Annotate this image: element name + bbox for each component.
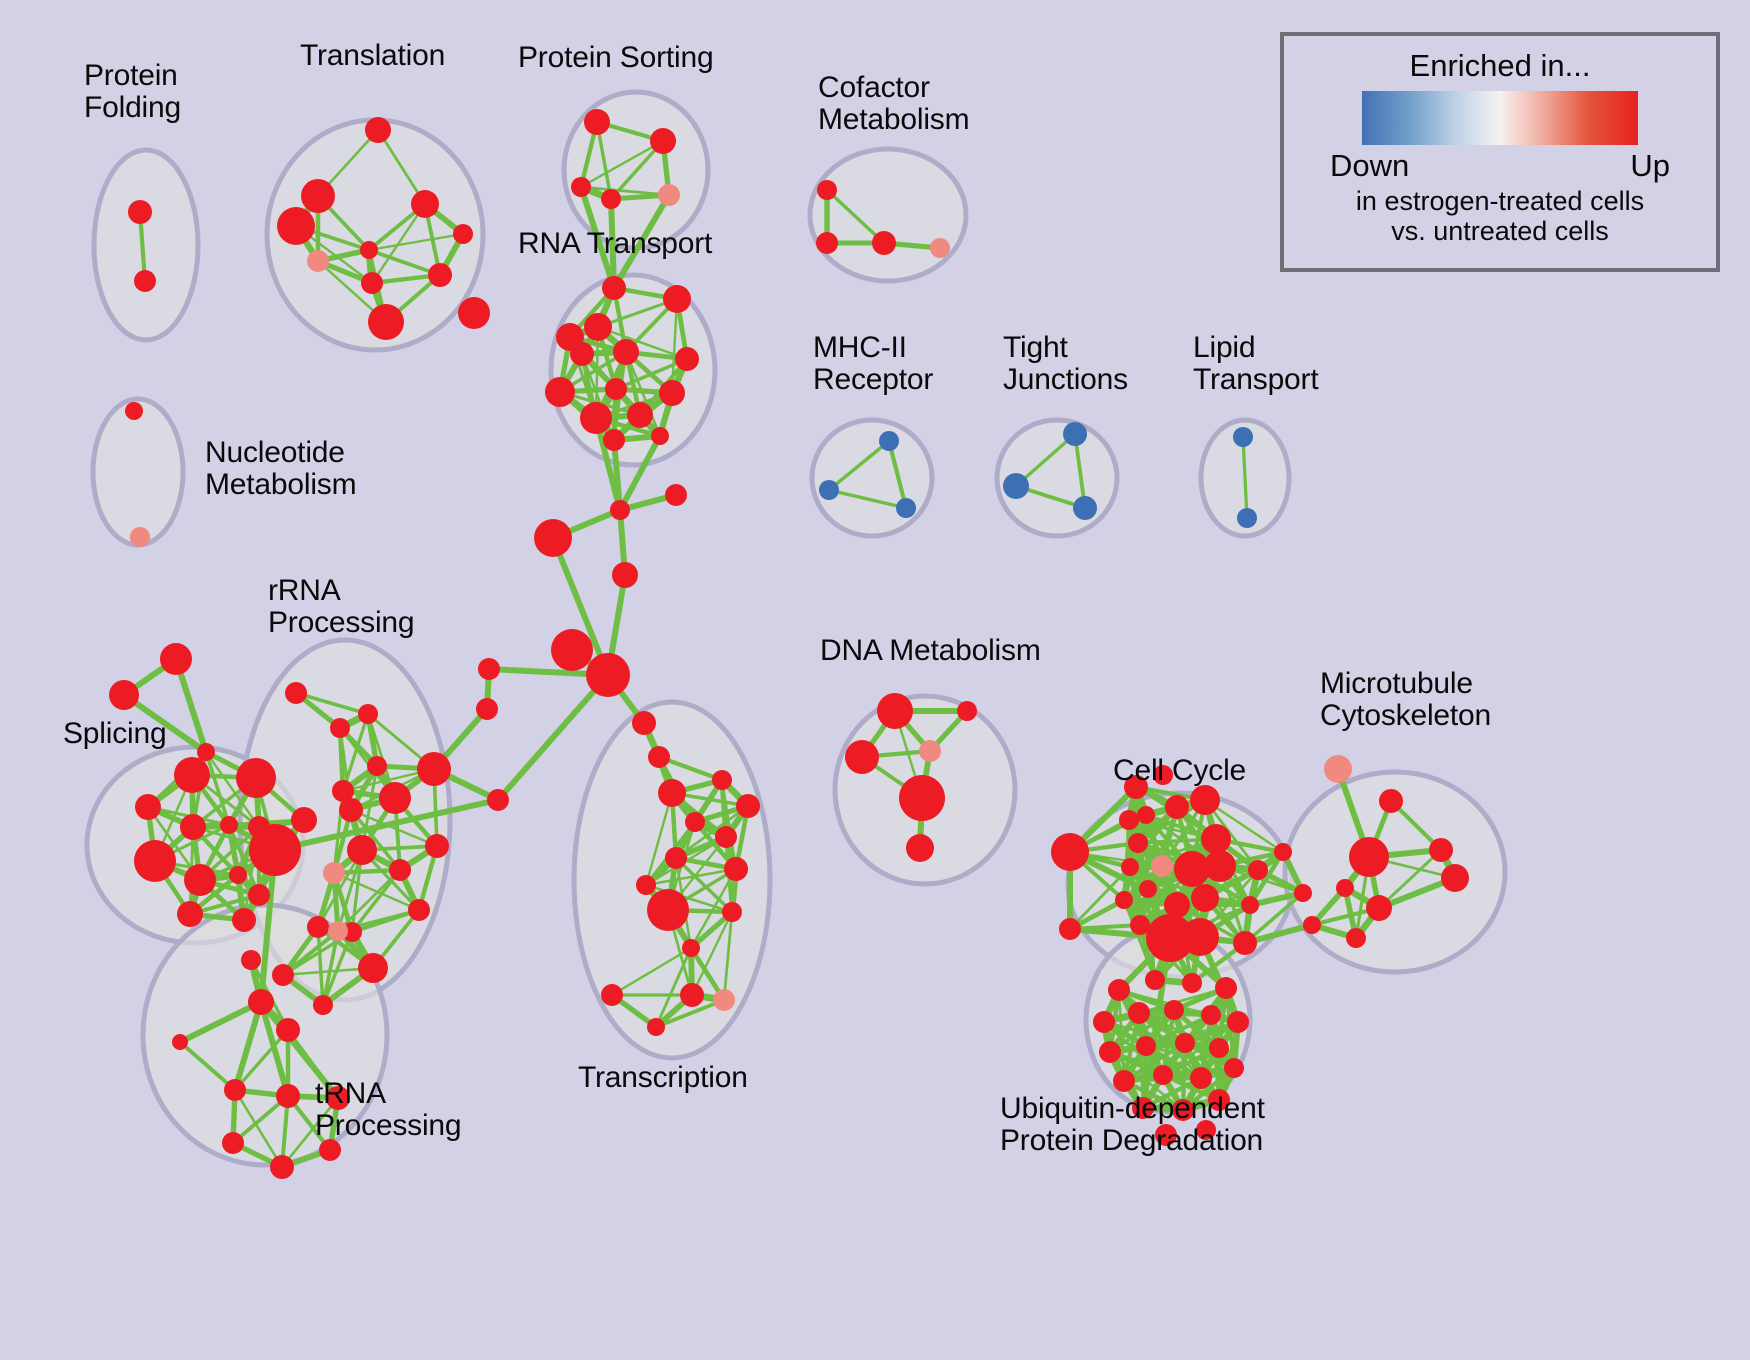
cluster-label-trna-processing: tRNAProcessing <box>315 1078 461 1143</box>
cluster-label-line: tRNA <box>315 1078 461 1110</box>
network-node[interactable] <box>845 740 879 774</box>
cluster-label-line: Cofactor <box>818 72 969 104</box>
network-node[interactable] <box>1233 427 1253 447</box>
legend-title: Enriched in... <box>1410 48 1591 84</box>
network-node[interactable] <box>1108 979 1130 1001</box>
network-node[interactable] <box>1294 884 1312 902</box>
network-node[interactable] <box>1175 1033 1195 1053</box>
network-node[interactable] <box>368 304 404 340</box>
network-node[interactable] <box>307 916 329 938</box>
legend-up-label: Up <box>1630 148 1670 184</box>
network-node[interactable] <box>1059 918 1081 940</box>
network-node[interactable] <box>134 270 156 292</box>
network-node[interactable] <box>659 380 685 406</box>
cluster-label-line: Junctions <box>1003 364 1128 396</box>
cluster-hull-mhc-ii-receptor <box>812 420 932 536</box>
network-node[interactable] <box>1051 833 1089 871</box>
network-node[interactable] <box>601 984 623 1006</box>
network-node[interactable] <box>272 964 294 986</box>
cluster-label-line: rRNA <box>268 575 414 607</box>
cluster-label-line: Microtubule <box>1320 668 1491 700</box>
network-node[interactable] <box>1201 1005 1221 1025</box>
network-node[interactable] <box>1429 838 1453 862</box>
network-node[interactable] <box>610 500 630 520</box>
network-node[interactable] <box>1224 1058 1244 1078</box>
network-node[interactable] <box>722 902 742 922</box>
network-node[interactable] <box>906 834 934 862</box>
cluster-label-line: Transport <box>1193 364 1318 396</box>
network-node[interactable] <box>1128 1002 1150 1024</box>
network-node[interactable] <box>249 824 301 876</box>
cluster-label-line: Receptor <box>813 364 933 396</box>
network-node[interactable] <box>1151 855 1173 877</box>
network-node[interactable] <box>411 190 439 218</box>
network-node[interactable] <box>232 908 256 932</box>
cluster-label-line: Nucleotide <box>205 437 356 469</box>
network-node[interactable] <box>425 834 449 858</box>
cluster-label-line: Metabolism <box>205 469 356 501</box>
network-node[interactable] <box>276 1018 300 1042</box>
cluster-label-dna-metabolism: DNA Metabolism <box>820 635 1041 667</box>
network-node[interactable] <box>1003 473 1029 499</box>
network-node[interactable] <box>663 285 691 313</box>
network-node[interactable] <box>1093 1011 1115 1033</box>
legend-subtitle: in estrogen-treated cells vs. untreated … <box>1356 186 1644 246</box>
network-node[interactable] <box>358 953 388 983</box>
network-node[interactable] <box>551 629 593 671</box>
network-node[interactable] <box>248 884 270 906</box>
legend-box: Enriched in... Down Up in estrogen-treat… <box>1280 32 1720 272</box>
network-node[interactable] <box>330 718 350 738</box>
legend-endpoint-labels: Down Up <box>1330 148 1670 184</box>
network-node[interactable] <box>285 682 307 704</box>
cluster-label-line: MHC-II <box>813 332 933 364</box>
network-node[interactable] <box>658 184 680 206</box>
network-node[interactable] <box>584 109 610 135</box>
network-node[interactable] <box>1324 755 1352 783</box>
network-node[interactable] <box>896 498 916 518</box>
network-node[interactable] <box>360 241 378 259</box>
network-node[interactable] <box>603 429 625 451</box>
network-node[interactable] <box>417 752 451 786</box>
cluster-label-nucleotide-metabolism: NucleotideMetabolism <box>205 437 356 502</box>
cluster-hull-cofactor-metabolism <box>810 149 966 281</box>
network-node[interactable] <box>872 231 896 255</box>
cluster-label-line: Protein Degradation <box>1000 1125 1265 1157</box>
network-node[interactable] <box>323 862 345 884</box>
network-node[interactable] <box>1136 1036 1156 1056</box>
network-node[interactable] <box>313 995 333 1015</box>
legend-subtitle-line-2: vs. untreated cells <box>1356 216 1644 246</box>
network-node[interactable] <box>545 377 575 407</box>
cluster-label-line: Translation <box>300 40 445 72</box>
network-node[interactable] <box>930 238 950 258</box>
network-node[interactable] <box>408 899 430 921</box>
cluster-label-line: RNA Transport <box>518 228 712 260</box>
network-node[interactable] <box>379 782 411 814</box>
network-node[interactable] <box>665 484 687 506</box>
network-node[interactable] <box>1346 928 1366 948</box>
network-node[interactable] <box>197 743 215 761</box>
network-node[interactable] <box>487 789 509 811</box>
network-node[interactable] <box>229 866 247 884</box>
network-node[interactable] <box>601 189 621 209</box>
network-node[interactable] <box>647 889 689 931</box>
network-node[interactable] <box>1303 916 1321 934</box>
network-node[interactable] <box>476 698 498 720</box>
network-node[interactable] <box>1274 843 1292 861</box>
network-node[interactable] <box>712 770 732 790</box>
network-node[interactable] <box>586 653 630 697</box>
cluster-label-translation: Translation <box>300 40 445 72</box>
network-node[interactable] <box>1237 508 1257 528</box>
network-node[interactable] <box>1113 1070 1135 1092</box>
network-node[interactable] <box>658 779 686 807</box>
cluster-label-line: Transcription <box>578 1062 748 1094</box>
network-node[interactable] <box>478 658 500 680</box>
network-node[interactable] <box>1190 785 1220 815</box>
cluster-label-line: Protein <box>84 60 181 92</box>
cluster-label-line: Splicing <box>63 718 166 750</box>
network-node[interactable] <box>365 117 391 143</box>
network-node[interactable] <box>1099 1041 1121 1063</box>
network-node[interactable] <box>1241 896 1259 914</box>
network-node[interactable] <box>534 519 572 557</box>
network-node[interactable] <box>109 680 139 710</box>
network-node[interactable] <box>1128 833 1148 853</box>
network-node[interactable] <box>1137 806 1155 824</box>
network-node[interactable] <box>276 1084 300 1108</box>
network-node[interactable] <box>128 200 152 224</box>
network-node[interactable] <box>1209 1038 1229 1058</box>
network-node[interactable] <box>1349 837 1389 877</box>
cluster-label-ubiquitin-protein-degradation: Ubiquitin-dependentProtein Degradation <box>1000 1093 1265 1158</box>
network-node[interactable] <box>328 921 348 941</box>
legend-color-gradient-bar <box>1362 91 1638 145</box>
cluster-label-cell-cycle: Cell Cycle <box>1113 755 1246 787</box>
cluster-label-line: Protein Sorting <box>518 42 713 74</box>
cluster-label-rrna-processing: rRNAProcessing <box>268 575 414 640</box>
network-node[interactable] <box>724 857 748 881</box>
network-node[interactable] <box>1336 879 1354 897</box>
network-node[interactable] <box>612 562 638 588</box>
network-node[interactable] <box>647 1018 665 1036</box>
network-node[interactable] <box>428 263 452 287</box>
network-node[interactable] <box>682 939 700 957</box>
network-node[interactable] <box>347 835 377 865</box>
cluster-label-line: Folding <box>84 92 181 124</box>
network-node[interactable] <box>1204 850 1236 882</box>
network-node[interactable] <box>877 693 913 729</box>
network-node[interactable] <box>1153 1065 1173 1085</box>
network-node[interactable] <box>172 1034 188 1050</box>
cluster-label-protein-folding: ProteinFolding <box>84 60 181 125</box>
network-node[interactable] <box>1201 824 1231 854</box>
network-node[interactable] <box>713 989 735 1011</box>
network-node[interactable] <box>220 816 238 834</box>
network-node[interactable] <box>177 901 203 927</box>
network-node[interactable] <box>817 180 837 200</box>
network-node[interactable] <box>1441 864 1469 892</box>
network-node[interactable] <box>613 339 639 365</box>
network-node[interactable] <box>307 250 329 272</box>
network-node[interactable] <box>361 272 383 294</box>
legend-subtitle-line-1: in estrogen-treated cells <box>1356 186 1644 216</box>
network-node[interactable] <box>1233 931 1257 955</box>
network-node[interactable] <box>248 989 274 1015</box>
network-node[interactable] <box>1190 1067 1212 1089</box>
network-node[interactable] <box>458 297 490 329</box>
network-node[interactable] <box>636 875 656 895</box>
network-node[interactable] <box>241 950 261 970</box>
network-node[interactable] <box>1181 918 1219 956</box>
network-node[interactable] <box>571 177 591 197</box>
cluster-label-cofactor-metabolism: CofactorMetabolism <box>818 72 969 137</box>
network-node[interactable] <box>602 276 626 300</box>
network-node[interactable] <box>1145 970 1165 990</box>
network-node[interactable] <box>1119 810 1139 830</box>
cluster-label-splicing: Splicing <box>63 718 166 750</box>
cluster-label-line: Metabolism <box>818 104 969 136</box>
cluster-hull-nucleotide-metabolism <box>93 399 183 545</box>
network-node[interactable] <box>1191 884 1219 912</box>
network-node[interactable] <box>675 347 699 371</box>
cluster-label-line: DNA Metabolism <box>820 635 1041 667</box>
network-node[interactable] <box>1248 860 1268 880</box>
cluster-label-line: Ubiquitin-dependent <box>1000 1093 1265 1125</box>
network-node[interactable] <box>570 342 594 366</box>
network-node[interactable] <box>957 701 977 721</box>
network-node[interactable] <box>236 758 276 798</box>
network-node[interactable] <box>184 864 216 896</box>
network-node[interactable] <box>736 794 760 818</box>
network-node[interactable] <box>819 480 839 500</box>
network-node[interactable] <box>1073 496 1097 520</box>
network-node[interactable] <box>715 826 737 848</box>
network-node[interactable] <box>1139 880 1157 898</box>
legend-down-label: Down <box>1330 148 1409 184</box>
network-node[interactable] <box>816 232 838 254</box>
network-node[interactable] <box>174 757 210 793</box>
network-node[interactable] <box>180 814 206 840</box>
network-node[interactable] <box>899 775 945 821</box>
network-node[interactable] <box>134 840 176 882</box>
network-node[interactable] <box>1182 973 1202 993</box>
network-node[interactable] <box>130 527 150 547</box>
cluster-label-line: Tight <box>1003 332 1128 364</box>
network-node[interactable] <box>680 983 704 1007</box>
network-node[interactable] <box>367 756 387 776</box>
network-node[interactable] <box>291 807 317 833</box>
network-node[interactable] <box>358 704 378 724</box>
network-node[interactable] <box>270 1155 294 1179</box>
cluster-label-rna-transport: RNA Transport <box>518 228 712 260</box>
cluster-label-line: Processing <box>268 607 414 639</box>
cluster-label-lipid-transport: LipidTransport <box>1193 332 1318 397</box>
network-node[interactable] <box>1063 422 1087 446</box>
network-node[interactable] <box>648 746 670 768</box>
cluster-label-transcription: Transcription <box>578 1062 748 1094</box>
cluster-label-tight-junctions: TightJunctions <box>1003 332 1128 397</box>
network-node[interactable] <box>222 1132 244 1154</box>
cluster-label-line: Cell Cycle <box>1113 755 1246 787</box>
network-node[interactable] <box>879 431 899 451</box>
network-node[interactable] <box>1164 1000 1184 1020</box>
network-node[interactable] <box>919 740 941 762</box>
network-node[interactable] <box>277 207 315 245</box>
network-node[interactable] <box>651 427 669 445</box>
network-node[interactable] <box>605 378 627 400</box>
cluster-label-line: Processing <box>315 1110 461 1142</box>
network-node[interactable] <box>665 847 687 869</box>
network-node[interactable] <box>1366 895 1392 921</box>
network-node[interactable] <box>580 402 612 434</box>
network-node[interactable] <box>627 402 653 428</box>
network-node[interactable] <box>160 643 192 675</box>
cluster-hull-protein-folding <box>94 150 198 340</box>
enrichment-map-figure: ProteinFoldingTranslationProtein Sorting… <box>0 0 1750 1360</box>
network-node[interactable] <box>135 794 161 820</box>
network-node[interactable] <box>1215 977 1237 999</box>
cluster-label-microtubule-cytoskeleton: MicrotubuleCytoskeleton <box>1320 668 1491 733</box>
network-node[interactable] <box>389 859 411 881</box>
network-node[interactable] <box>125 402 143 420</box>
network-node[interactable] <box>339 798 363 822</box>
network-node[interactable] <box>1121 858 1139 876</box>
network-node[interactable] <box>1379 789 1403 813</box>
network-node[interactable] <box>453 224 473 244</box>
cluster-label-mhc-ii-receptor: MHC-IIReceptor <box>813 332 933 397</box>
network-node[interactable] <box>1165 795 1189 819</box>
cluster-label-line: Lipid <box>1193 332 1318 364</box>
network-node[interactable] <box>301 179 335 213</box>
network-node[interactable] <box>584 313 612 341</box>
cluster-label-line: Cytoskeleton <box>1320 700 1491 732</box>
network-node[interactable] <box>685 812 705 832</box>
cluster-label-protein-sorting: Protein Sorting <box>518 42 713 74</box>
network-node[interactable] <box>1115 891 1133 909</box>
network-node[interactable] <box>650 128 676 154</box>
network-node[interactable] <box>1227 1011 1249 1033</box>
network-node[interactable] <box>632 711 656 735</box>
network-node[interactable] <box>224 1079 246 1101</box>
